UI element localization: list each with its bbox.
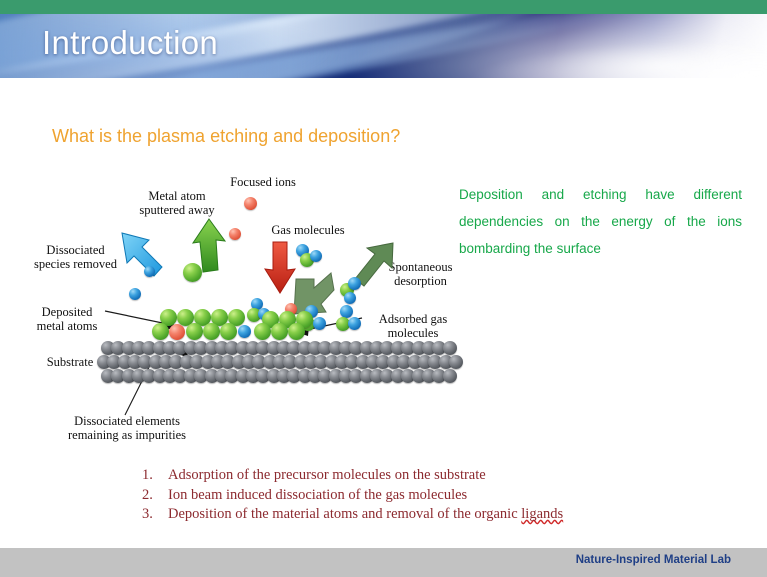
gas-molecule-b-atom2 [348,277,361,290]
list-item-text-main: Deposition of the material atoms and rem… [168,506,521,522]
deposited-atom [186,323,203,340]
gas-molecule-a-atom3 [310,250,322,262]
particle-dissociated-2 [129,288,141,300]
substrate-atom [443,369,457,383]
list-item: 3. Deposition of the material atoms and … [142,505,662,525]
substrate-atom [443,341,457,355]
impurity-atom-blue [238,325,251,338]
deposited-atom [271,323,288,340]
list-item: 1. Adsorption of the precursor molecules… [142,466,662,486]
label-adsorbed-gas-molecules: Adsorbed gas molecules [363,312,463,340]
deposited-atom [152,323,169,340]
list-item-text: Deposition of the material atoms and rem… [168,505,563,525]
list-item-number: 1. [142,466,168,486]
particle-focused-ion-2 [229,228,241,240]
particle-dissociated-1 [144,266,155,277]
substrate-atom [449,355,463,369]
adsorbed-cluster-2-atom3 [313,317,326,330]
page-title: Introduction [42,24,218,62]
label-deposited-metal-atoms: Deposited metal atoms [22,305,112,333]
list-item-text: Adsorption of the precursor molecules on… [168,466,486,486]
deposited-atom [220,323,237,340]
list-item-number: 2. [142,486,168,506]
green-accent-band [0,0,767,14]
misspelled-word: ligands [521,506,563,522]
explanatory-note-text: Deposition and etching have different de… [459,187,742,256]
label-focused-ions: Focused ions [213,175,313,189]
label-dissociated-species: Dissociated species removed [18,243,133,271]
deposited-atom [288,323,305,340]
gas-molecule-b-atom3 [344,292,356,304]
label-metal-atom: Metal atom sputtered away [122,189,232,217]
list-item-text: Ion beam induced dissociation of the gas… [168,486,467,506]
plasma-process-diagram: Metal atom sputtered away Focused ions G… [0,165,470,455]
footer-lab-name: Nature-Inspired Material Lab [576,554,731,566]
list-item-number: 3. [142,505,168,525]
list-item: 2. Ion beam induced dissociation of the … [142,486,662,506]
process-steps-list: 1. Adsorption of the precursor molecules… [142,466,662,525]
adsorbed-cluster-3-atom3 [348,317,361,330]
deposited-atom [254,323,271,340]
impurity-atom [169,324,185,340]
explanatory-note: Deposition and etching have different de… [459,181,742,262]
slide-subtitle: What is the plasma etching and depositio… [52,126,400,147]
label-gas-molecules: Gas molecules [258,223,358,237]
slide: Introduction What is the plasma etching … [0,0,767,577]
particle-sputtered-metal [183,263,202,282]
deposited-atom [203,323,220,340]
particle-focused-ion-1 [244,197,257,210]
